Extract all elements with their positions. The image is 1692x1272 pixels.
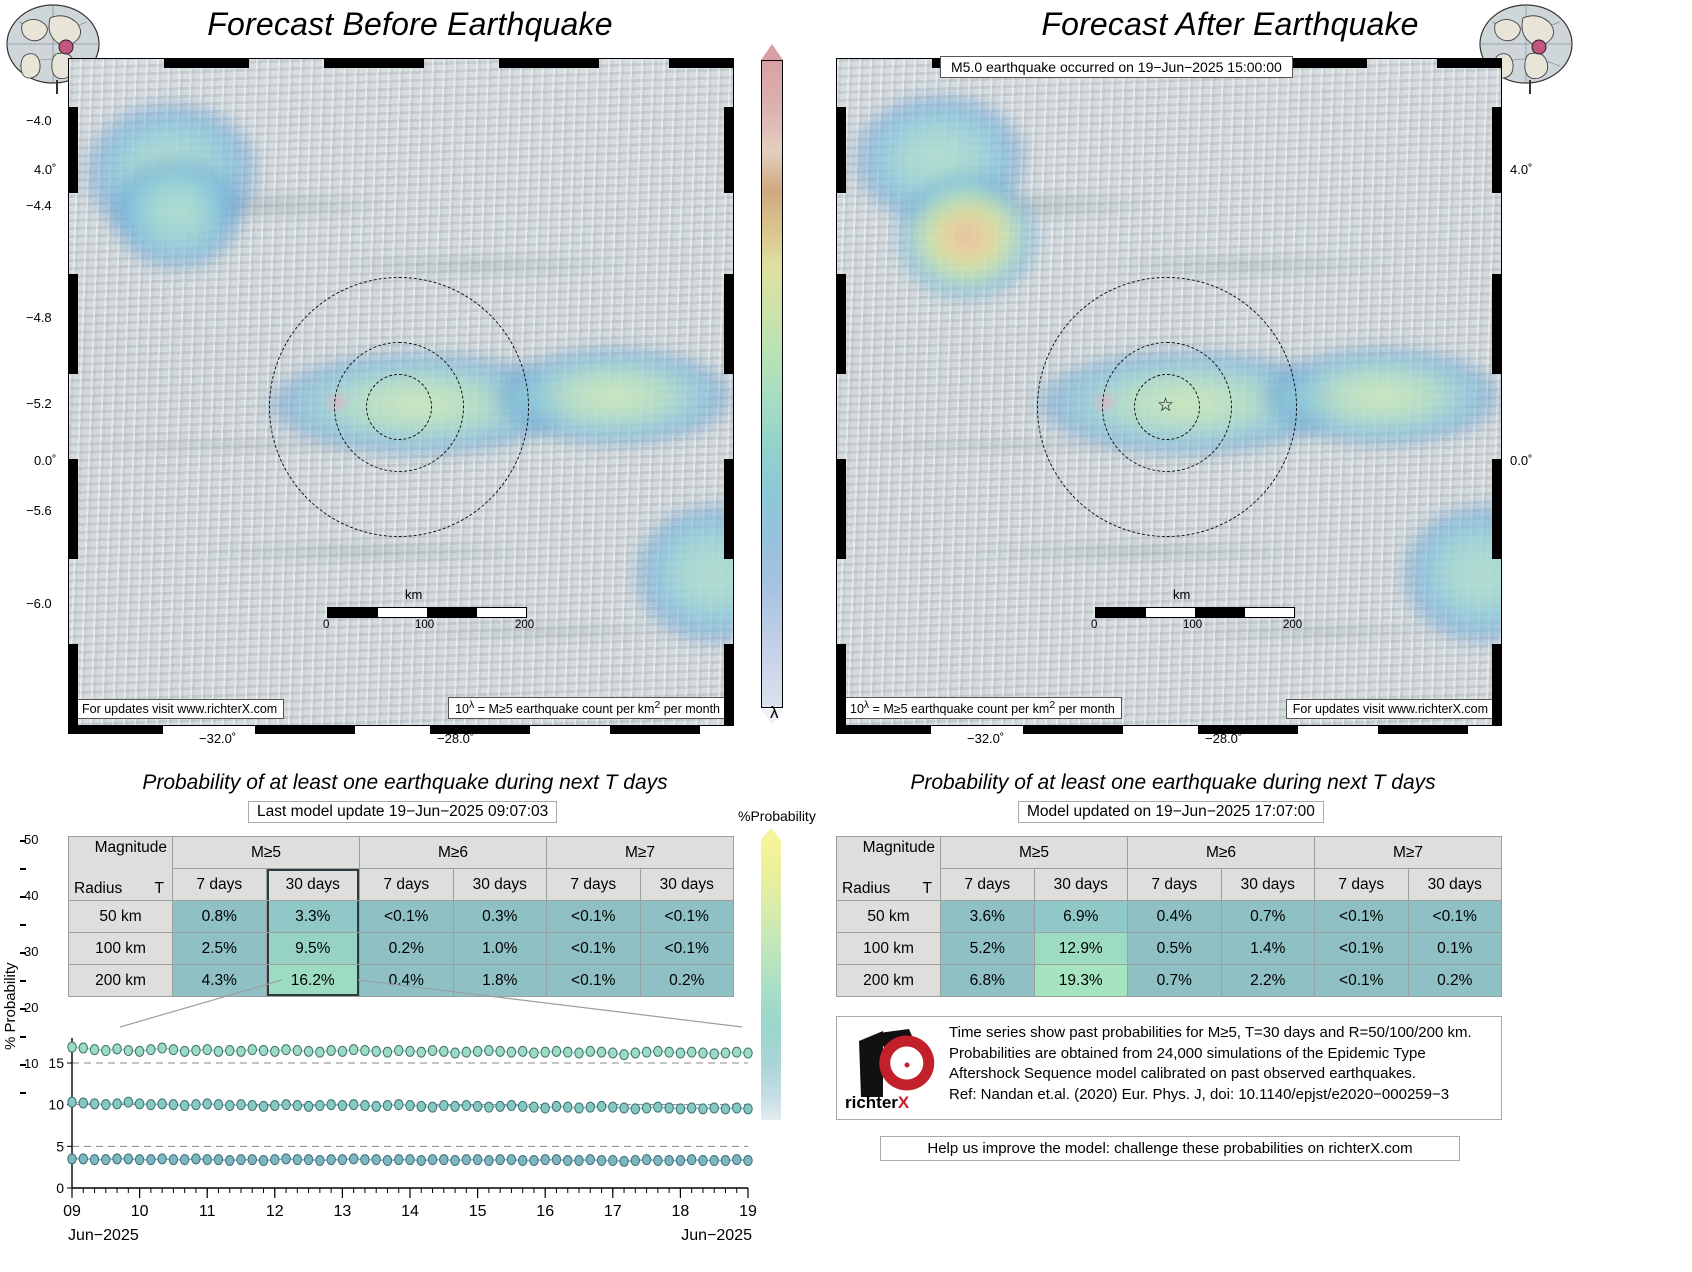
series-point [124,1046,132,1056]
series-point [316,1101,324,1111]
series-point [327,1046,335,1056]
series-point [293,1155,301,1165]
prob-cell[interactable]: 0.2% [1408,965,1502,997]
series-point [733,1047,741,1057]
series-point [135,1155,143,1165]
scalebar-tick: 100 [1183,619,1202,631]
probability-table-before[interactable]: Magnitude Radius T M≥5 M≥6 M≥7 7 days 30… [68,836,734,997]
period-header: 30 days [1408,869,1502,901]
help-link-box[interactable]: Help us improve the model: challenge the… [880,1136,1460,1161]
series-point [485,1046,493,1056]
magnitude-header-m5: M≥5 [173,837,360,869]
series-point [631,1104,639,1114]
series-point [665,1047,673,1057]
magnitude-header-m7: M≥7 [547,837,734,869]
info-line: Ref: Nandan et.al. (2020) Eur. Phys. J, … [949,1085,1497,1106]
series-point [642,1047,650,1057]
series-point [327,1100,335,1110]
series-point [597,1047,605,1057]
scalebar-unit-label: km [1173,587,1190,602]
prob-cell[interactable]: 1.4% [1221,933,1315,965]
x-tick-label: 16 [536,1203,554,1220]
series-point [383,1156,391,1166]
prob-cell[interactable]: 0.4% [1128,901,1222,933]
corner-radius-label: Radius [74,880,122,898]
series-point [496,1046,504,1056]
series-point [676,1048,684,1058]
series-point [180,1155,188,1165]
prob-cell[interactable]: 6.9% [1034,901,1128,933]
series-point [507,1155,515,1165]
prob-cell[interactable]: <0.1% [360,901,454,933]
series-point [147,1045,155,1055]
series-point [744,1156,752,1166]
table-header-row: Magnitude Radius T M≥5 M≥6 M≥7 [837,837,1502,869]
series-point [744,1104,752,1114]
series-point [462,1155,470,1165]
map-footer-legend: 10λ = M≥5 earthquake count per km2 per m… [843,697,1122,719]
series-point [518,1101,526,1111]
series-point [147,1155,155,1165]
series-point [361,1046,369,1056]
period-header: 7 days [1315,869,1409,901]
brand-x: X [898,1093,909,1112]
x-tick-label: 18 [672,1203,690,1220]
magnitude-header-m6: M≥6 [1128,837,1315,869]
map-lat-tick: 0.0˚ [1510,453,1532,468]
prob-cell[interactable]: 19.3% [1034,965,1128,997]
richterx-wordmark: richterX [845,1093,909,1113]
row-radius-label: 50 km [837,901,941,933]
series-point [361,1155,369,1165]
series-point [642,1103,650,1113]
series-point [586,1102,594,1112]
table-row[interactable]: 50 km 3.6% 6.9% 0.4% 0.7% <0.1% <0.1% [837,901,1502,933]
series-point [304,1046,312,1056]
period-header: 7 days [1128,869,1222,901]
colorbar-arrow-top-icon [761,828,781,840]
series-point [496,1101,504,1111]
prob-cell[interactable]: <0.1% [640,933,734,965]
series-point [710,1156,718,1166]
info-line: Aftershock Sequence model calibrated on … [949,1064,1497,1085]
series-point [226,1156,234,1166]
series-point [417,1101,425,1111]
series-point [203,1045,211,1055]
series-point [79,1043,87,1053]
series-point [609,1048,617,1058]
series-point [226,1046,234,1056]
series-point [383,1101,391,1111]
series-point [417,1047,425,1057]
series-point [473,1101,481,1111]
prob-cell[interactable]: 0.8% [173,901,267,933]
period-header: 7 days [547,869,641,901]
prob-cell[interactable]: 12.9% [1034,933,1128,965]
probability-blob [107,154,247,274]
pct-tick: 50 [24,832,38,847]
series-point [327,1155,335,1165]
series-point [349,1045,357,1055]
series-point [575,1156,583,1166]
series-point [518,1046,526,1056]
row-radius-label: 50 km [69,901,173,933]
series-point [406,1101,414,1111]
series-point [406,1046,414,1056]
scalebar-tick: 200 [1283,619,1302,631]
colorbar-arrow-top-icon [761,44,783,60]
prob-cell[interactable]: 5.2% [941,933,1035,965]
prob-cell[interactable]: 1.0% [453,933,547,965]
series-point [259,1046,267,1056]
table-row[interactable]: 100 km 2.5% 9.5% 0.2% 1.0% <0.1% <0.1% [69,933,734,965]
series-point [451,1101,459,1111]
forecast-map-before[interactable]: km 0 100 200 For updates visit www.richt… [68,58,734,726]
series-point [541,1047,549,1057]
series-point [237,1100,245,1110]
series-point [248,1101,256,1111]
series-point [304,1101,312,1111]
scalebar-tick: 0 [1091,619,1097,631]
series-point [203,1155,211,1165]
x-tick-label: 13 [334,1203,352,1220]
scalebar-tick: 0 [323,619,329,631]
prob-cell[interactable]: <0.1% [1315,901,1409,933]
series-point [609,1102,617,1112]
magnitude-header-m6: M≥6 [360,837,547,869]
row-radius-label: 100 km [837,933,941,965]
series-point [282,1045,290,1055]
series-point [507,1047,515,1057]
period-header: 7 days [360,869,454,901]
series-point [372,1101,380,1111]
series-point [744,1048,752,1058]
series-point [597,1101,605,1111]
series-point [654,1046,662,1056]
series-point [451,1156,459,1166]
series-point [90,1045,98,1055]
corner-radius-label: Radius [842,880,890,898]
x-tick-label: 19 [739,1203,757,1220]
table-corner-header: Magnitude Radius T [837,837,941,901]
lambda-tick: −4.4 [26,198,52,213]
series-point [417,1156,425,1166]
timeseries-chart[interactable]: 0510150910111213141516171819Jun−2025Jun−… [0,1020,770,1267]
series-point [552,1155,560,1165]
x-tick-label: 12 [266,1203,284,1220]
row-radius-label: 200 km [837,965,941,997]
lambda-tick: −5.2 [26,396,52,411]
x-tick-label: 10 [131,1203,149,1220]
y-tick-label: 0 [56,1180,64,1196]
corner-t-label: T [155,880,164,898]
scalebar-tick: 100 [415,619,434,631]
series-point [271,1101,279,1111]
lambda-colorbar [761,60,783,708]
map-lat-tick: 0.0˚ [34,453,56,468]
y-tick-label: 15 [48,1055,64,1071]
series-point [169,1155,177,1165]
lambda-tick: −6.0 [26,596,52,611]
map-footer-updates[interactable]: For updates visit www.richterX.com [1286,699,1495,719]
series-point [687,1047,695,1057]
series-point [440,1155,448,1165]
series-point [237,1155,245,1165]
series-point [248,1045,256,1055]
map-scalebar: km 0 100 200 [1095,607,1295,618]
series-point [541,1155,549,1165]
series-point [259,1156,267,1166]
series-point [135,1046,143,1056]
prob-cell[interactable]: 0.1% [1408,933,1502,965]
series-point [349,1100,357,1110]
period-header: 7 days [941,869,1035,901]
series-point [68,1042,76,1052]
timeseries-svg: 0510150910111213141516171819Jun−2025Jun−… [0,1020,770,1267]
x-tick-label: 17 [604,1203,622,1220]
series-point [361,1101,369,1111]
prob-subtitle-before: Last model update 19−Jun−2025 09:07:03 [248,801,557,823]
corner-magnitude-label: Magnitude [863,839,935,857]
prob-cell[interactable]: 0.3% [453,901,547,933]
x-tick-label: 11 [199,1203,216,1220]
info-text: Time series show past probabilities for … [949,1023,1497,1106]
map-lat-tick: 4.0˚ [1510,162,1532,177]
series-point [68,1154,76,1164]
series-point [620,1050,628,1060]
series-point [620,1103,628,1113]
series-point [395,1100,403,1110]
series-point [102,1046,110,1056]
period-header: 7 days [173,869,267,901]
info-box: richterX Time series show past probabili… [836,1016,1502,1120]
series-point [282,1100,290,1110]
series-point [699,1104,707,1114]
prob-cell[interactable]: 0.7% [1221,901,1315,933]
series-point [609,1156,617,1166]
period-header: 30 days [453,869,547,901]
series-point [687,1103,695,1113]
series-point [192,1046,200,1056]
series-point [530,1048,538,1058]
prob-cell[interactable]: 3.3% [266,901,360,933]
map-lon-tick: −32.0˚ [967,731,1004,746]
series-point [293,1046,301,1056]
series-point [428,1155,436,1165]
prob-cell[interactable]: 0.7% [1128,965,1222,997]
map-lon-tick: −32.0˚ [199,731,236,746]
series-point [485,1156,493,1166]
brand-richter: richter [845,1093,898,1112]
series-point [214,1155,222,1165]
series-point [316,1047,324,1057]
series-point [496,1155,504,1165]
prob-cell[interactable]: <0.1% [547,901,641,933]
series-point [293,1101,301,1111]
series-point [552,1101,560,1111]
series-point [428,1046,436,1056]
corner-magnitude-label: Magnitude [95,839,167,857]
series-point [169,1100,177,1110]
lambda-tick: −4.0 [26,113,52,128]
series-point [406,1155,414,1165]
series-point [90,1099,98,1109]
prob-title-before: Probability of at least one earthquake d… [55,771,755,795]
series-point [113,1044,121,1054]
period-header: 30 days [266,869,360,901]
series-point [654,1102,662,1112]
prob-cell[interactable]: 0.5% [1128,933,1222,965]
series-point [226,1101,234,1111]
y-tick-label: 10 [48,1097,64,1113]
series-point [699,1048,707,1058]
table-row[interactable]: 50 km 0.8% 3.3% <0.1% 0.3% <0.1% <0.1% [69,901,734,933]
prob-cell[interactable]: <0.1% [547,933,641,965]
prob-cell[interactable]: 6.8% [941,965,1035,997]
series-point [541,1103,549,1113]
table-row[interactable]: 200 km 6.8% 19.3% 0.7% 2.2% <0.1% 0.2% [837,965,1502,997]
y-tick-label: 5 [56,1138,64,1154]
map-title-before: Forecast Before Earthquake [60,6,760,43]
prob-cell[interactable]: 3.6% [941,901,1035,933]
series-point [180,1046,188,1056]
lambda-tick: −5.6 [26,503,52,518]
series-point [135,1099,143,1109]
series-point [620,1156,628,1166]
series-point [102,1155,110,1165]
series-point [282,1154,290,1164]
prob-title-after: Probability of at least one earthquake d… [823,771,1523,795]
series-point [158,1043,166,1053]
series-point [214,1100,222,1110]
magnitude-header-m7: M≥7 [1315,837,1502,869]
series-point [372,1155,380,1165]
series-point [349,1154,357,1164]
pct-colorbar-label: %Probability [738,808,816,824]
series-point [676,1156,684,1166]
series-point [338,1101,346,1111]
series-point [203,1099,211,1109]
series-point [687,1155,695,1165]
series-point [575,1048,583,1058]
series-point [473,1046,481,1056]
series-point [642,1155,650,1165]
series-point [192,1154,200,1164]
series-point [372,1046,380,1056]
magnitude-header-m5: M≥5 [941,837,1128,869]
info-line: Time series show past probabilities for … [949,1023,1497,1044]
series-point [147,1100,155,1110]
series-point [113,1154,121,1164]
series-point [248,1155,256,1165]
series-point [676,1104,684,1114]
series-point [214,1046,222,1056]
table-header-row: Magnitude Radius T M≥5 M≥6 M≥7 [69,837,734,869]
series-point [586,1155,594,1165]
prob-cell[interactable]: <0.1% [1315,965,1409,997]
prob-subtitle-after: Model updated on 19−Jun−2025 17:07:00 [1018,801,1324,823]
series-point [237,1046,245,1056]
series-point [564,1102,572,1112]
series-point [485,1102,493,1112]
series-point [180,1101,188,1111]
series-point [90,1155,98,1165]
series-point [113,1099,121,1109]
series-point [530,1102,538,1112]
prob-cell[interactable]: 9.5% [266,933,360,965]
corner-t-label: T [923,880,932,898]
x-tick-label: 14 [401,1203,419,1220]
series-point [451,1048,459,1058]
map-scalebar: km 0 100 200 [327,607,527,618]
series-point [428,1102,436,1112]
series-point [124,1097,132,1107]
series-point [338,1155,346,1165]
series-point [530,1156,538,1166]
series-point [564,1047,572,1057]
info-line: Probabilities are obtained from 24,000 s… [949,1044,1497,1065]
period-header: 30 days [1221,869,1315,901]
table-row[interactable]: 100 km 5.2% 12.9% 0.5% 1.4% <0.1% 0.1% [837,933,1502,965]
series-point [586,1046,594,1056]
prob-cell[interactable]: <0.1% [640,901,734,933]
series-point [102,1100,110,1110]
prob-cell[interactable]: 2.2% [1221,965,1315,997]
series-point [192,1100,200,1110]
series-point [68,1097,76,1107]
prob-cell[interactable]: 0.2% [360,933,454,965]
series-point [158,1099,166,1109]
pct-tick: 30 [24,944,38,959]
series-point [665,1156,673,1166]
x-tick-label: 15 [469,1203,487,1220]
series-point [631,1048,639,1058]
earthquake-banner: M5.0 earthquake occurred on 19−Jun−2025 … [940,56,1293,78]
series-point [79,1154,87,1164]
series-point [395,1046,403,1056]
series-point [79,1098,87,1108]
series-point [271,1046,279,1056]
series-point [395,1155,403,1165]
prob-cell[interactable]: 2.5% [173,933,267,965]
radius-ring-50km [366,374,432,440]
series-point [597,1156,605,1166]
series-point [169,1045,177,1055]
prob-cell[interactable]: <0.1% [1408,901,1502,933]
period-header: 30 days [640,869,734,901]
series-point [158,1154,166,1164]
prob-cell[interactable]: <0.1% [1315,933,1409,965]
forecast-map-after[interactable]: ☆ km 0 100 200 10λ = M≥5 earthquake coun… [836,58,1502,726]
series-point [631,1156,639,1166]
row-radius-label: 100 km [69,933,173,965]
table-corner-header: Magnitude Radius T [69,837,173,901]
map-footer-updates[interactable]: For updates visit www.richterX.com [75,699,284,719]
probability-table-after[interactable]: Magnitude Radius T M≥5 M≥6 M≥7 7 days 30… [836,836,1502,997]
series-point [518,1156,526,1166]
pct-tick: 40 [24,888,38,903]
map-lat-tick: 4.0˚ [34,162,56,177]
lambda-symbol: λ [770,703,779,723]
period-header: 30 days [1034,869,1128,901]
series-point [271,1155,279,1165]
series-point [507,1101,515,1111]
series-point [733,1155,741,1165]
series-point [575,1103,583,1113]
series-point [721,1156,729,1166]
series-point [721,1048,729,1058]
series-point [564,1156,572,1166]
